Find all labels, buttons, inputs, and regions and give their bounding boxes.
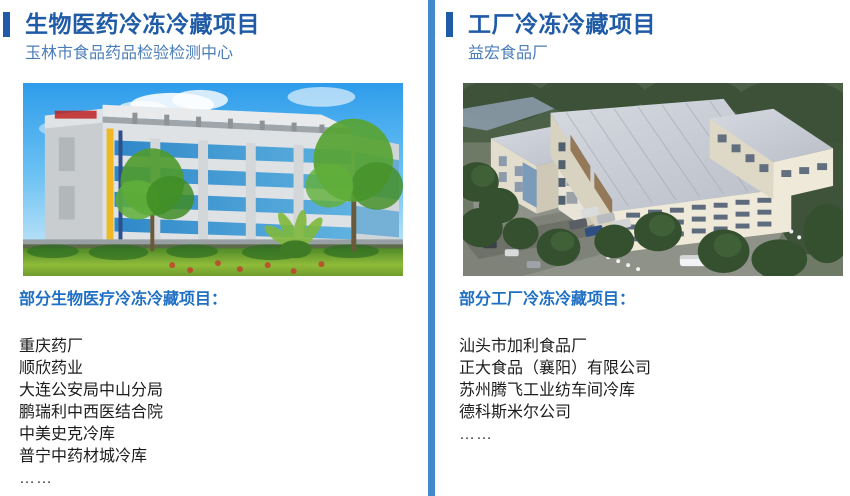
- header-text-group: 工厂冷冻冷藏项目 益宏食品厂: [468, 10, 656, 65]
- page-subtitle-biomedical: 玉林市食品药品检验检测中心: [25, 43, 260, 65]
- column-divider: [428, 0, 435, 496]
- slide-root: 生物医药冷冻冷藏项目 玉林市食品药品检验检测中心: [0, 0, 850, 496]
- list-item: 中美史克冷库: [19, 424, 163, 446]
- header-factory: 工厂冷冻冷藏项目 益宏食品厂: [446, 10, 656, 65]
- project-list-biomedical: 重庆药厂 顺欣药业 大连公安局中山分局 鹏瑞利中西医结合院 中美史克冷库 普宁中…: [19, 336, 163, 490]
- list-item: 汕头市加利食品厂: [459, 336, 651, 358]
- list-item: 正大食品（襄阳）有限公司: [459, 358, 651, 380]
- list-item-ellipsis: ……: [459, 424, 651, 446]
- column-biomedical: 生物医药冷冻冷藏项目 玉林市食品药品检验检测中心: [0, 0, 428, 496]
- column-factory: 工厂冷冻冷藏项目 益宏食品厂: [435, 0, 850, 496]
- page-title-biomedical: 生物医药冷冻冷藏项目: [25, 10, 260, 38]
- accent-bar-icon: [446, 12, 453, 37]
- project-list-factory: 汕头市加利食品厂 正大食品（襄阳）有限公司 苏州腾飞工业纺车间冷库 德科斯米尔公…: [459, 336, 651, 446]
- factory-complex-photo: [462, 82, 844, 277]
- list-item: 顺欣药业: [19, 358, 163, 380]
- list-item: 普宁中药材城冷库: [19, 446, 163, 468]
- list-item: 大连公安局中山分局: [19, 380, 163, 402]
- list-heading-biomedical: 部分生物医疗冷冻冷藏项目：: [19, 289, 227, 311]
- list-item: 鹏瑞利中西医结合院: [19, 402, 163, 424]
- list-item: 苏州腾飞工业纺车间冷库: [459, 380, 651, 402]
- list-item-ellipsis: ……: [19, 468, 163, 490]
- header-biomedical: 生物医药冷冻冷藏项目 玉林市食品药品检验检测中心: [3, 10, 260, 65]
- list-heading-factory: 部分工厂冷冻冷藏项目：: [459, 289, 635, 311]
- list-item: 重庆药厂: [19, 336, 163, 358]
- page-title-factory: 工厂冷冻冷藏项目: [468, 10, 656, 38]
- factory-complex-illustration: [463, 83, 843, 276]
- biomedical-building-photo: [22, 82, 404, 277]
- accent-bar-icon: [3, 12, 10, 37]
- header-text-group: 生物医药冷冻冷藏项目 玉林市食品药品检验检测中心: [25, 10, 260, 65]
- list-item: 德科斯米尔公司: [459, 402, 651, 424]
- page-subtitle-factory: 益宏食品厂: [468, 43, 656, 65]
- biomedical-building-illustration: [23, 83, 403, 276]
